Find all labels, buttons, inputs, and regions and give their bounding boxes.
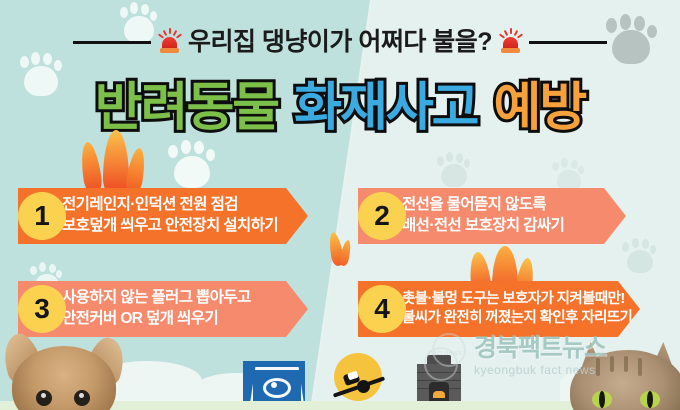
watermark-logo-text: Fact news (428, 350, 462, 357)
tip-line-1b: 보호덮개 씌우고 안전장치 설치하기 (62, 216, 278, 237)
siren-icon (501, 29, 520, 55)
electric-plug-spark-icon (330, 359, 386, 401)
header-rule-left (73, 41, 151, 44)
yorkshire-terrier-photo (0, 336, 132, 410)
tip-item-2: 전선을 물어뜯지 않도록 배선·전선 보호장치 감싸기 2 (358, 188, 626, 244)
tip-line-2b: 배선·전선 보호장치 감싸기 (402, 216, 596, 237)
watermark-english: kyeongbuk fact news (474, 364, 606, 376)
page-title: 반려동물 화재사고 예방 (0, 77, 680, 139)
watermark-korean: 경북팩트뉴스 (474, 336, 606, 361)
tip-item-4: 촛불·불멍 도구는 보호자가 지켜볼때만! 불씨가 완전히 꺼졌는지 확인후 자… (358, 281, 640, 337)
tip-line-4b: 불씨가 완전히 꺼졌는지 확인후 자리뜨기 (402, 309, 610, 328)
tip-item-3: 사용하지 않는 플러그 뽑아두고 안전커버 OR 덮개 씌우기 3 (18, 281, 308, 337)
title-word-fire-accident: 화재사고 (294, 82, 477, 134)
header-title: 우리집 댕냥이가 어쩌다 불을? (188, 30, 492, 55)
tip-line-4a: 촛불·불멍 도구는 보호자가 지켜볼때만! (402, 290, 610, 309)
header-banner: 우리집 댕냥이가 어쩌다 불을? (0, 22, 680, 62)
watermark: Fact news 경북팩트뉴스 kyeongbuk fact news (422, 330, 672, 382)
header-rule-right (529, 41, 607, 44)
tip-line-2a: 전선을 물어뜯지 않도록 (402, 195, 596, 216)
siren-icon (160, 29, 179, 55)
title-word-pet: 반려동물 (95, 82, 278, 134)
tip-line-1a: 전기레인지·인덕션 전원 점검 (62, 195, 278, 216)
tip-number-2: 2 (358, 192, 406, 240)
tip-line-3b: 안전커버 OR 덮개 씌우기 (62, 309, 278, 330)
title-word-prevention: 예방 (494, 82, 586, 134)
tip-number-3: 3 (18, 285, 66, 333)
tip-line-3a: 사용하지 않는 플러그 뽑아두고 (62, 288, 278, 309)
globe-logo-icon: Fact news (422, 333, 468, 379)
induction-cooktop-icon (243, 361, 305, 401)
tip-number-4: 4 (358, 285, 406, 333)
tip-number-1: 1 (18, 192, 66, 240)
tip-item-1: 전기레인지·인덕션 전원 점검 보호덮개 씌우고 안전장치 설치하기 1 (18, 188, 308, 244)
poster-root: 우리집 댕냥이가 어쩌다 불을? 반려동물 화재사고 예방 전기레인지·인덕션 … (0, 0, 680, 410)
